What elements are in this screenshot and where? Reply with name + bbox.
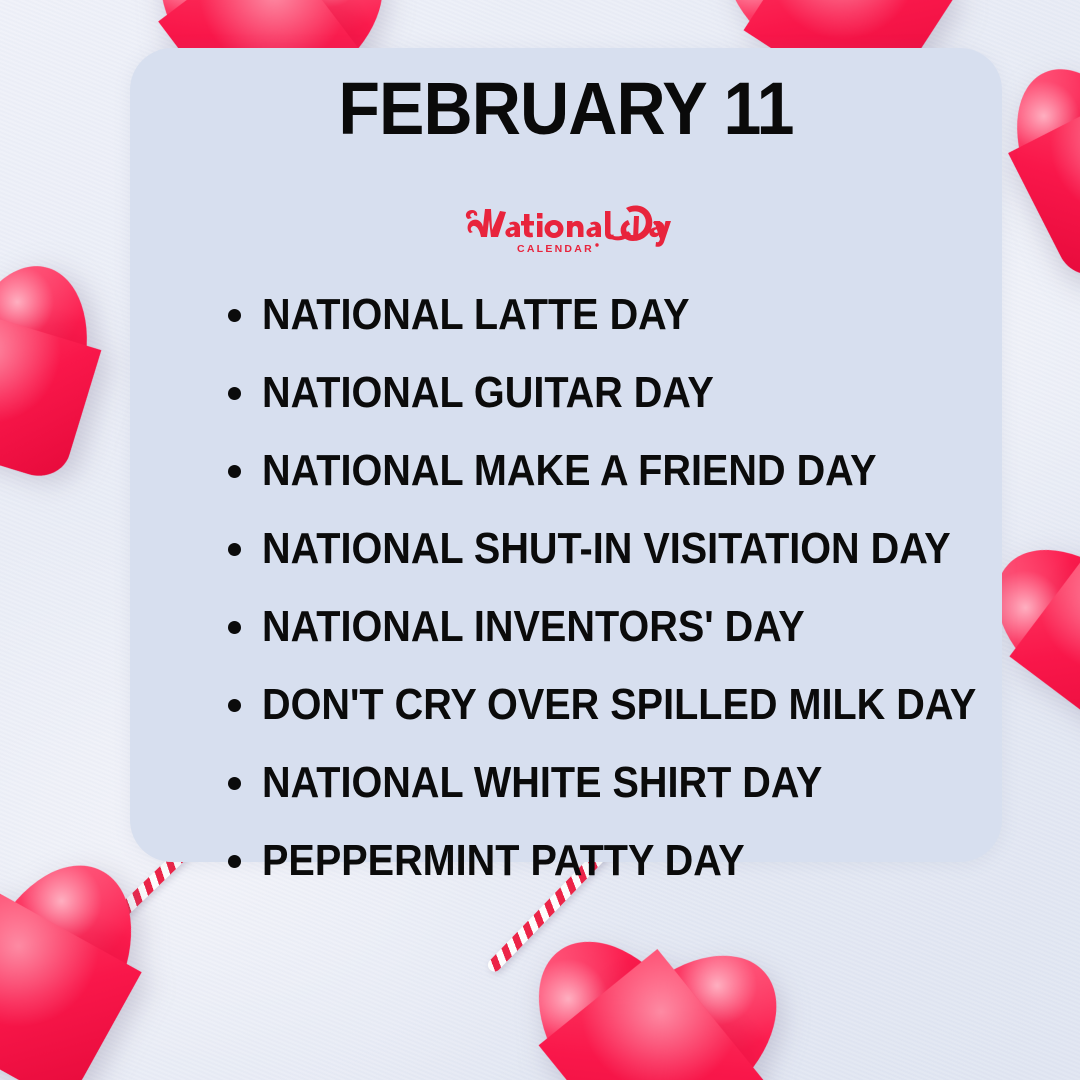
content-card: FEBRUARY 11 [130,48,1002,862]
list-item[interactable]: DON'T CRY OVER SPILLED MILK DAY [202,666,976,744]
page-title: FEBRUARY 11 [165,66,967,151]
list-item[interactable]: NATIONAL MAKE A FRIEND DAY [202,432,976,510]
list-item-label: NATIONAL MAKE A FRIEND DAY [262,432,877,510]
list-item-label: DON'T CRY OVER SPILLED MILK DAY [262,666,976,744]
list-item-label: NATIONAL LATTE DAY [262,276,690,354]
list-item[interactable]: NATIONAL GUITAR DAY [202,354,976,432]
bullet-icon [228,309,241,322]
observance-list: NATIONAL LATTE DAY NATIONAL GUITAR DAY N… [202,276,976,900]
list-item[interactable]: PEPPERMINT PATTY DAY [202,822,976,900]
list-item-label: PEPPERMINT PATTY DAY [262,822,745,900]
national-day-calendar-logo: CALENDAR [460,194,672,256]
bullet-icon [228,777,241,790]
list-item[interactable]: NATIONAL SHUT-IN VISITATION DAY [202,510,976,588]
list-item-label: NATIONAL INVENTORS' DAY [262,588,805,666]
bullet-icon [228,387,241,400]
list-item-label: NATIONAL WHITE SHIRT DAY [262,744,822,822]
bullet-icon [228,699,241,712]
list-item-label: NATIONAL GUITAR DAY [262,354,714,432]
list-item[interactable]: NATIONAL INVENTORS' DAY [202,588,976,666]
logo-calendar-text: CALENDAR [517,243,594,255]
bullet-icon [228,543,241,556]
bullet-icon [228,465,241,478]
list-item[interactable]: NATIONAL LATTE DAY [202,276,976,354]
bullet-icon [228,621,241,634]
logo-registered-mark [595,243,598,246]
bullet-icon [228,855,241,868]
list-item[interactable]: NATIONAL WHITE SHIRT DAY [202,744,976,822]
poster-canvas: FEBRUARY 11 [0,0,1080,1080]
list-item-label: NATIONAL SHUT-IN VISITATION DAY [262,510,951,588]
